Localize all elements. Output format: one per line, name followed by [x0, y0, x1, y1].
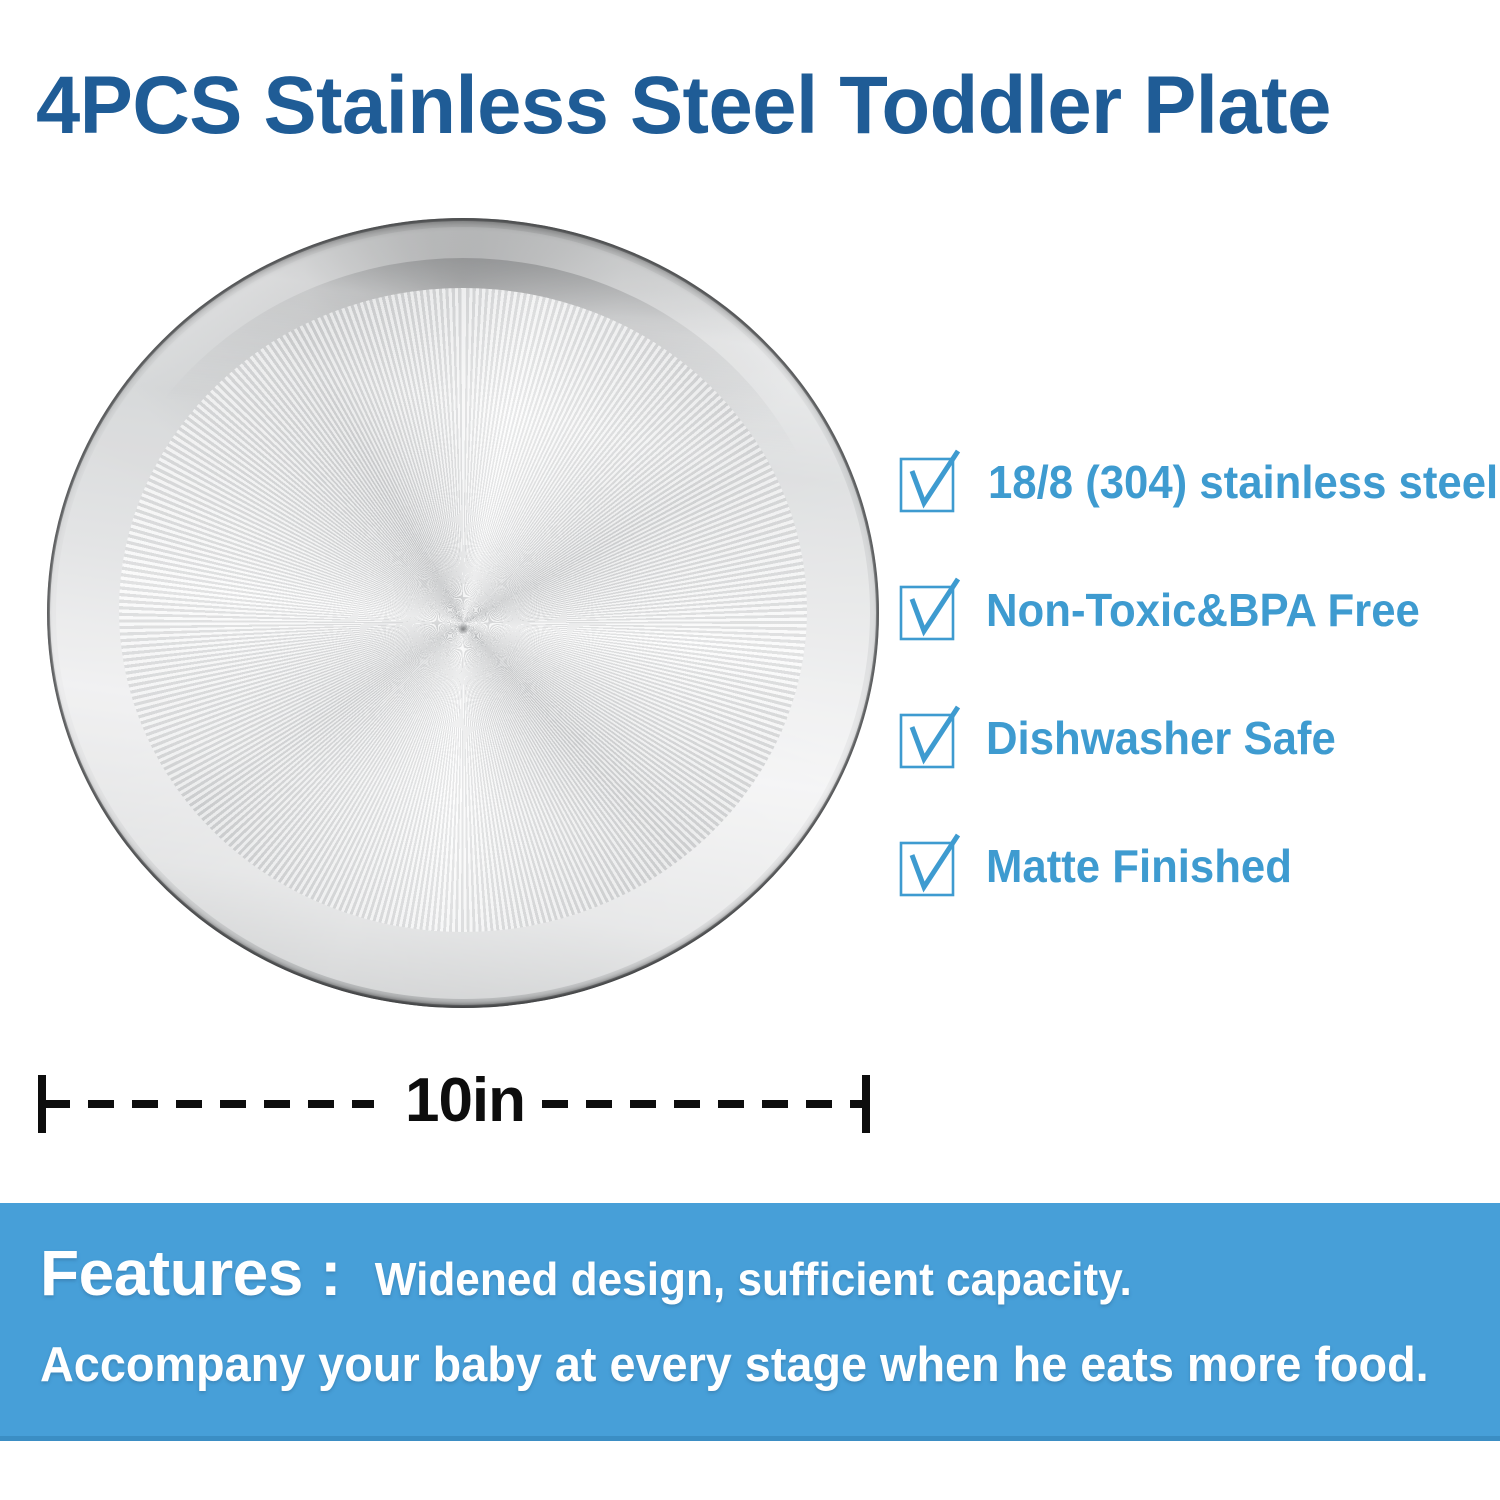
dimension-label: 10in: [390, 1062, 540, 1140]
plate-rim-edge: [47, 218, 879, 1008]
banner-line-2-text: Accompany your baby at every stage when …: [40, 1335, 1429, 1395]
features-banner: Features : Widened design, sufficient ca…: [0, 1203, 1500, 1441]
feature-item-matte-finished: Matte Finished: [898, 802, 1494, 930]
dimension-indicator: 10in: [38, 1075, 870, 1135]
dimension-dash-left: [44, 1100, 374, 1108]
banner-first-line: Features : Widened design, sufficient ca…: [40, 1237, 1147, 1315]
product-infographic: 4PCS Stainless Steel Toddler Plate 18/8 …: [0, 0, 1500, 1500]
dimension-dash-right: [542, 1100, 864, 1108]
feature-item-dishwasher-safe: Dishwasher Safe: [898, 674, 1494, 802]
feature-item-non-toxic: Non-Toxic&BPA Free: [898, 546, 1494, 674]
feature-item-label: Dishwasher Safe: [986, 712, 1336, 764]
checkbox-checked-icon: [898, 835, 960, 897]
dimension-endcap-right: [862, 1075, 870, 1133]
feature-checklist: 18/8 (304) stainless steel Non-Toxic&BPA…: [898, 418, 1494, 930]
checkbox-checked-icon: [898, 451, 960, 513]
banner-line-1-text: Widened design, sufficient capacity.: [375, 1243, 1132, 1315]
product-plate-image: [47, 218, 879, 1008]
checkbox-checked-icon: [898, 707, 960, 769]
feature-item-label: Matte Finished: [986, 840, 1292, 892]
checkbox-checked-icon: [898, 579, 960, 641]
page-title: 4PCS Stainless Steel Toddler Plate: [36, 58, 1423, 154]
feature-item-stainless-steel: 18/8 (304) stainless steel: [898, 418, 1494, 546]
feature-item-label: 18/8 (304) stainless steel: [988, 456, 1498, 508]
feature-item-label: Non-Toxic&BPA Free: [986, 584, 1420, 636]
banner-heading: Features :: [40, 1237, 341, 1309]
